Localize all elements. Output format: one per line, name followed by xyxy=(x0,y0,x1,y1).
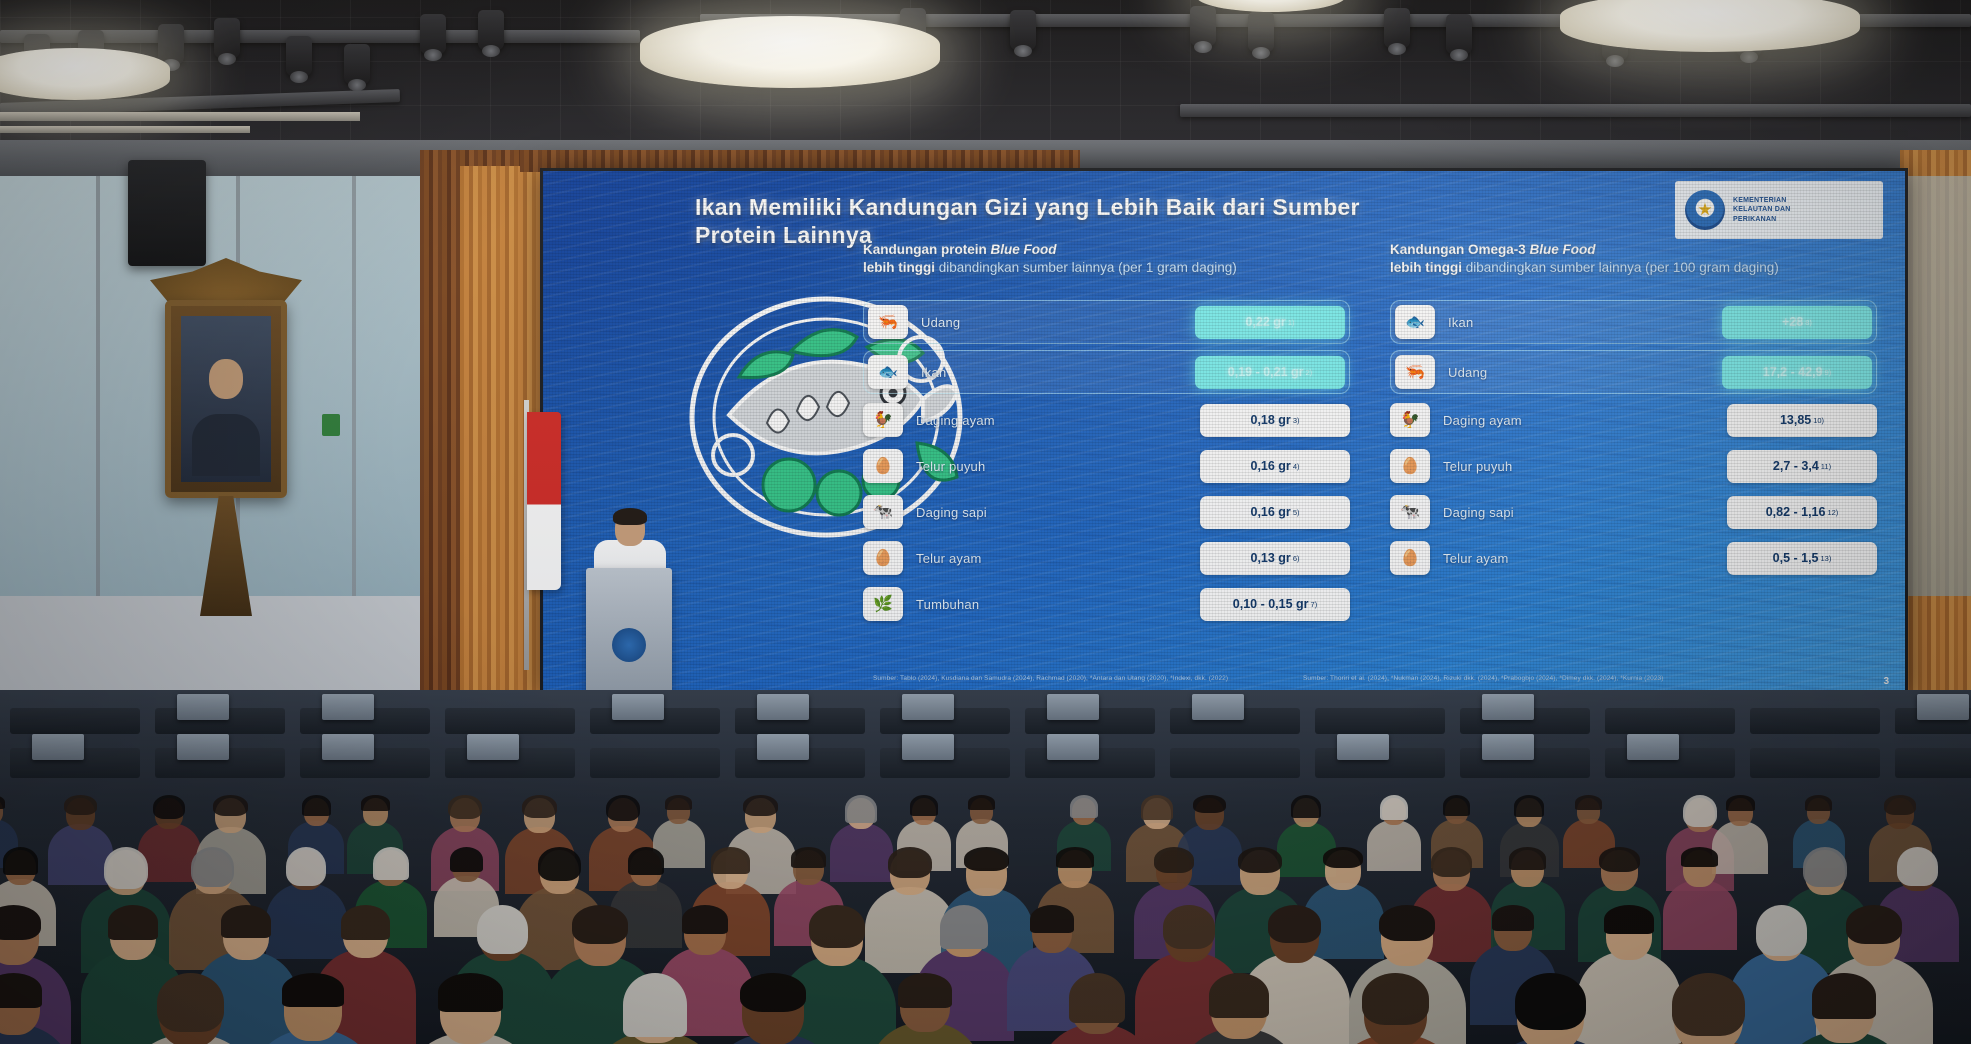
indonesian-flag xyxy=(527,412,561,590)
stage-spotlight xyxy=(420,14,446,54)
audience-laptop xyxy=(1627,734,1679,760)
stage-spotlight xyxy=(286,36,312,76)
audience-member-hair xyxy=(1492,905,1534,931)
footnote-marker: 8) xyxy=(1805,318,1812,327)
portrait-head xyxy=(209,359,243,399)
protein-heading-bold2: lebih tinggi xyxy=(863,260,935,275)
chicken-icon: 🐓 xyxy=(1390,403,1430,437)
nutrition-row-value: 17,2 - 42,99) xyxy=(1722,356,1872,389)
protein-column-heading: Kandungan protein Blue Food lebih tinggi… xyxy=(863,241,1350,289)
omega3-column-heading: Kandungan Omega-3 Blue Food lebih tinggi… xyxy=(1390,241,1877,289)
audience-member-hair xyxy=(1514,795,1544,817)
audience-member xyxy=(266,883,347,959)
protein-heading-italic: Blue Food xyxy=(991,242,1057,257)
omega3-sources-note: Sumber: Thoriri et al. (2024), *Nukman (… xyxy=(1303,674,1723,683)
audience-member xyxy=(1712,821,1768,874)
audience-laptop xyxy=(757,694,809,720)
audience-desk xyxy=(1315,708,1445,734)
audience-member-hair xyxy=(1672,973,1745,1036)
audience-member-hair xyxy=(1756,905,1807,956)
omega3-heading-italic: Blue Food xyxy=(1530,242,1596,257)
audience-member-hair xyxy=(191,847,234,887)
nutrition-row-value: 0,13 gr6) xyxy=(1200,542,1350,575)
garuda-seal-icon: ★ xyxy=(1685,190,1725,230)
audience-member-hair xyxy=(1515,973,1586,1030)
nutrition-row-value: 2,7 - 3,411) xyxy=(1727,450,1877,483)
nutrition-row-value: 13,8510) xyxy=(1727,404,1877,437)
audience-desk xyxy=(1170,748,1300,778)
protein-heading-soft: dibandingkan sumber lainnya xyxy=(939,260,1115,275)
audience-member-hair xyxy=(438,973,503,1012)
nutrition-row: 🐄Daging sapi0,82 - 1,1612) xyxy=(1390,492,1877,532)
audience-member-hair xyxy=(341,905,390,940)
protein-column: Kandungan protein Blue Food lebih tinggi… xyxy=(863,241,1350,630)
audience-member xyxy=(1367,820,1421,871)
shrimp-icon: 🦐 xyxy=(868,305,908,339)
nutrition-row: 🌿Tumbuhan0,10 - 0,15 gr7) xyxy=(863,584,1350,624)
footnote-marker: 13) xyxy=(1821,554,1832,563)
nutrition-row-label: Telur puyuh xyxy=(903,459,1200,474)
stage-spotlight xyxy=(1446,14,1472,54)
beef-icon: 🐄 xyxy=(1390,495,1430,529)
audience-member-hair xyxy=(1803,847,1847,887)
footnote-marker: 6) xyxy=(1293,554,1300,563)
audience-member-hair xyxy=(1805,795,1832,811)
audience-member-hair xyxy=(910,795,938,816)
protein-sources-note: Sumber: Tablo (2024), Kusdiana dan Samud… xyxy=(873,674,1263,683)
nutrition-row-value: 0,22 gr1) xyxy=(1195,306,1345,339)
chicken-egg-icon: 🥚 xyxy=(1390,541,1430,575)
chicken-icon: 🐓 xyxy=(863,403,903,437)
audience-member-hair xyxy=(373,847,409,880)
audience-member-hair xyxy=(108,905,158,940)
audience-member-hair xyxy=(1030,905,1074,933)
audience-member-hair xyxy=(743,795,778,816)
ceiling-panel-light xyxy=(1560,0,1860,52)
audience-member-hair xyxy=(1154,847,1194,873)
protein-rows: 🦐Udang0,22 gr1)🐟Ikan0,19 - 0,21 gr2)🐓Dag… xyxy=(863,300,1350,624)
framed-portrait xyxy=(165,300,287,498)
ceiling-cove xyxy=(0,126,250,133)
portrait-body xyxy=(192,414,260,476)
audience-desk xyxy=(1750,748,1880,778)
omega3-rows: 🐟Ikan+288)🦐Udang17,2 - 42,99)🐓Daging aya… xyxy=(1390,300,1877,578)
audience-member-hair xyxy=(1897,847,1938,886)
audience-member-hair xyxy=(1681,847,1718,867)
ceiling-panel-light xyxy=(640,16,940,88)
audience-member-hair xyxy=(1380,795,1408,820)
audience-member-hair xyxy=(1362,973,1429,1025)
audience-member-hair xyxy=(361,795,390,811)
audience-member xyxy=(1577,951,1681,1044)
audience-member xyxy=(1663,880,1737,950)
audience-desk xyxy=(590,748,720,778)
audience-member-hair xyxy=(1163,905,1215,949)
audience-member-hair xyxy=(157,973,224,1032)
exit-sign-icon xyxy=(322,414,340,436)
omega3-heading-bold: Kandungan Omega-3 xyxy=(1390,242,1526,257)
audience-member-hair xyxy=(1431,847,1472,877)
audience-member-hair xyxy=(809,905,865,948)
audience-laptop xyxy=(467,734,519,760)
audience-member-hair xyxy=(538,847,581,881)
quail-egg-icon: 🥚 xyxy=(1390,449,1430,483)
audience-member-hair xyxy=(1291,795,1321,818)
audience-member-hair xyxy=(791,847,826,868)
stage-spotlight xyxy=(1384,8,1410,48)
footnote-marker: 10) xyxy=(1813,416,1824,425)
audience-member-hair xyxy=(1604,905,1654,934)
footnote-marker: 5) xyxy=(1293,508,1300,517)
nutrition-row-label: Daging ayam xyxy=(1430,413,1727,428)
audience-member-hair xyxy=(450,847,483,872)
beef-icon: 🐄 xyxy=(863,495,903,529)
stage-spotlight xyxy=(158,24,184,64)
ministry-logo-text: KEMENTERIAN KELAUTAN DAN PERIKANAN xyxy=(1733,196,1791,225)
audience-desk xyxy=(1605,708,1735,734)
audience-member-hair xyxy=(898,973,952,1008)
footnote-marker: 2) xyxy=(1306,368,1313,377)
nutrition-columns: Kandungan protein Blue Food lebih tinggi… xyxy=(863,241,1877,630)
audience-desk xyxy=(1750,708,1880,734)
audience-member-hair xyxy=(448,795,482,819)
audience-laptop xyxy=(902,694,954,720)
nutrition-row-label: Telur puyuh xyxy=(1430,459,1727,474)
audience-member-hair xyxy=(0,795,5,809)
audience-laptop xyxy=(177,694,229,720)
audience-member-hair xyxy=(888,847,932,878)
audience-member-hair xyxy=(1683,795,1717,827)
nutrition-row: 🐟Ikan0,19 - 0,21 gr2) xyxy=(863,350,1350,394)
omega3-heading-soft: dibandingkan sumber lainnya xyxy=(1466,260,1642,275)
conference-hall-photo: Ikan Memiliki Kandungan Gizi yang Lebih … xyxy=(0,0,1971,1044)
chicken-egg-icon: 🥚 xyxy=(863,541,903,575)
audience-member-hair xyxy=(623,973,687,1037)
audience-member-hair xyxy=(1070,795,1098,818)
slide-page-number: 3 xyxy=(1883,676,1889,687)
protein-heading-bold: Kandungan protein xyxy=(863,242,987,257)
stage-spotlight xyxy=(1010,10,1036,50)
logo-line-1: KEMENTERIAN xyxy=(1733,196,1791,206)
nutrition-row-value: 0,19 - 0,21 gr2) xyxy=(1195,356,1345,389)
nutrition-row: 🦐Udang0,22 gr1) xyxy=(863,300,1350,344)
slide-canvas: Ikan Memiliki Kandungan Gizi yang Lebih … xyxy=(543,171,1905,695)
audience-member-hair xyxy=(153,795,185,819)
nutrition-row-value: 0,82 - 1,1612) xyxy=(1727,496,1877,529)
audience-member-hair xyxy=(522,795,557,818)
glass-mullion xyxy=(96,176,100,596)
audience-member-hair xyxy=(1268,905,1321,943)
led-presentation-screen: Ikan Memiliki Kandungan Gizi yang Lebih … xyxy=(540,168,1908,698)
audience-member-hair xyxy=(1509,847,1546,870)
audience-member-hair xyxy=(286,847,326,886)
nutrition-row-value: +288) xyxy=(1722,306,1872,339)
nutrition-row-value: 0,16 gr4) xyxy=(1200,450,1350,483)
omega3-heading-bold2: lebih tinggi xyxy=(1390,260,1462,275)
nutrition-row-value: 0,10 - 0,15 gr7) xyxy=(1200,588,1350,621)
omega3-heading-unit: (per 100 gram daging) xyxy=(1645,260,1779,275)
audience-member-hair xyxy=(1884,795,1916,815)
nutrition-row: 🥚Telur ayam0,5 - 1,513) xyxy=(1390,538,1877,578)
nutrition-row: 🐄Daging sapi0,16 gr5) xyxy=(863,492,1350,532)
audience-member-hair xyxy=(628,847,664,875)
audience-laptop xyxy=(177,734,229,760)
nutrition-row-label: Telur ayam xyxy=(1430,551,1727,566)
portrait-image xyxy=(181,316,271,482)
logo-line-3: PERIKANAN xyxy=(1733,215,1791,225)
audience-laptop xyxy=(1482,734,1534,760)
audience-member-hair xyxy=(1193,795,1226,813)
nutrition-row: 🥚Telur puyuh0,16 gr4) xyxy=(863,446,1350,486)
ceiling-panel-light xyxy=(0,48,170,100)
nutrition-row: 🐟Ikan+288) xyxy=(1390,300,1877,344)
wall-speaker-icon xyxy=(128,160,206,266)
audience-member-hair xyxy=(1812,973,1876,1019)
audience-member xyxy=(830,823,893,882)
stage-spotlight xyxy=(344,44,370,84)
nutrition-row: 🦐Udang17,2 - 42,99) xyxy=(1390,350,1877,394)
lighting-truss xyxy=(1180,104,1971,117)
audience-laptop xyxy=(1047,734,1099,760)
audience-member-hair xyxy=(1726,795,1755,811)
footnote-marker: 3) xyxy=(1293,416,1300,425)
nutrition-row: 🐓Daging ayam13,8510) xyxy=(1390,400,1877,440)
audience-area xyxy=(0,690,1971,1044)
audience-member-hair xyxy=(477,905,528,954)
speaker-hair xyxy=(613,508,647,525)
nutrition-row-label: Ikan xyxy=(908,365,1195,380)
audience-desk xyxy=(10,708,140,734)
audience-member-hair xyxy=(1069,973,1125,1023)
omega3-column: Kandungan Omega-3 Blue Food lebih tinggi… xyxy=(1390,241,1877,630)
nutrition-row-value: 0,5 - 1,513) xyxy=(1727,542,1877,575)
glass-mullion xyxy=(352,176,356,596)
footnote-marker: 12) xyxy=(1827,508,1838,517)
audience-member-hair xyxy=(968,795,995,810)
footnote-marker: 11) xyxy=(1821,462,1831,471)
footnote-marker: 1) xyxy=(1288,318,1295,327)
audience-member-hair xyxy=(302,795,331,816)
audience-laptop xyxy=(1482,694,1534,720)
audience-member-hair xyxy=(845,795,877,823)
audience-member-hair xyxy=(1379,905,1435,941)
logo-line-2: KELAUTAN DAN xyxy=(1733,205,1791,215)
audience-laptop xyxy=(1192,694,1244,720)
nutrition-row: 🐓Daging ayam0,18 gr3) xyxy=(863,400,1350,440)
ceiling-cove xyxy=(0,112,360,121)
audience-laptop xyxy=(902,734,954,760)
shrimp-icon: 🦐 xyxy=(1395,355,1435,389)
audience-member-hair xyxy=(1575,795,1602,810)
nutrition-row-value: 0,16 gr5) xyxy=(1200,496,1350,529)
audience-desk xyxy=(1895,748,1971,778)
audience-laptop xyxy=(757,734,809,760)
audience-laptop xyxy=(322,734,374,760)
audience-member-hair xyxy=(1443,795,1470,816)
footnote-marker: 9) xyxy=(1825,368,1832,377)
audience-member-hair xyxy=(572,905,628,944)
audience-laptop xyxy=(1917,694,1969,720)
audience-member-hair xyxy=(1209,973,1269,1018)
quail-egg-icon: 🥚 xyxy=(863,449,903,483)
nutrition-row-label: Daging ayam xyxy=(903,413,1200,428)
audience-member-hair xyxy=(213,795,248,816)
stage-spotlight xyxy=(1190,6,1216,46)
fish-icon: 🐟 xyxy=(1395,305,1435,339)
audience-member-hair xyxy=(3,847,38,875)
audience-member-hair xyxy=(282,973,344,1007)
audience-laptop xyxy=(322,694,374,720)
audience-member-hair xyxy=(1141,795,1173,820)
audience-laptop xyxy=(1047,694,1099,720)
nutrition-row: 🥚Telur ayam0,13 gr6) xyxy=(863,538,1350,578)
audience-member-hair xyxy=(221,905,271,938)
audience-member-hair xyxy=(606,795,640,821)
audience-laptop xyxy=(612,694,664,720)
footnote-marker: 7) xyxy=(1311,600,1318,609)
audience-member-hair xyxy=(682,905,728,934)
audience-member-hair xyxy=(1056,847,1094,868)
audience-member-hair xyxy=(1323,847,1363,868)
nutrition-row-label: Udang xyxy=(908,315,1195,330)
audience-member-hair xyxy=(964,847,1009,871)
plant-icon: 🌿 xyxy=(863,587,903,621)
audience-desk xyxy=(445,708,575,734)
audience-member-hair xyxy=(665,795,692,810)
stage-spotlight xyxy=(214,18,240,58)
audience-member-hair xyxy=(1846,905,1902,944)
nutrition-row-label: Tumbuhan xyxy=(903,597,1200,612)
fish-icon: 🐟 xyxy=(868,355,908,389)
nutrition-row-label: Daging sapi xyxy=(1430,505,1727,520)
audience-member-hair xyxy=(104,847,148,889)
audience-member-hair xyxy=(740,973,806,1012)
audience-member-hair xyxy=(1599,847,1640,872)
protein-heading-unit: (per 1 gram daging) xyxy=(1118,260,1237,275)
audience-laptop xyxy=(32,734,84,760)
audience-laptop xyxy=(1337,734,1389,760)
nutrition-row-label: Daging sapi xyxy=(903,505,1200,520)
audience-member-hair xyxy=(64,795,97,815)
ministry-logo: ★ KEMENTERIAN KELAUTAN DAN PERIKANAN xyxy=(1675,181,1883,239)
podium-seal-icon xyxy=(612,628,646,662)
nutrition-row-label: Ikan xyxy=(1435,315,1722,330)
audience-member-hair xyxy=(1238,847,1282,873)
footnote-marker: 4) xyxy=(1293,462,1300,471)
nutrition-row: 🥚Telur puyuh2,7 - 3,411) xyxy=(1390,446,1877,486)
nutrition-row-value: 0,18 gr3) xyxy=(1200,404,1350,437)
audience-member-hair xyxy=(940,905,988,949)
nutrition-row-label: Udang xyxy=(1435,365,1722,380)
stage-spotlight xyxy=(478,10,504,50)
nutrition-row-label: Telur ayam xyxy=(903,551,1200,566)
audience-member-hair xyxy=(711,847,750,874)
stage-spotlight xyxy=(1248,12,1274,52)
